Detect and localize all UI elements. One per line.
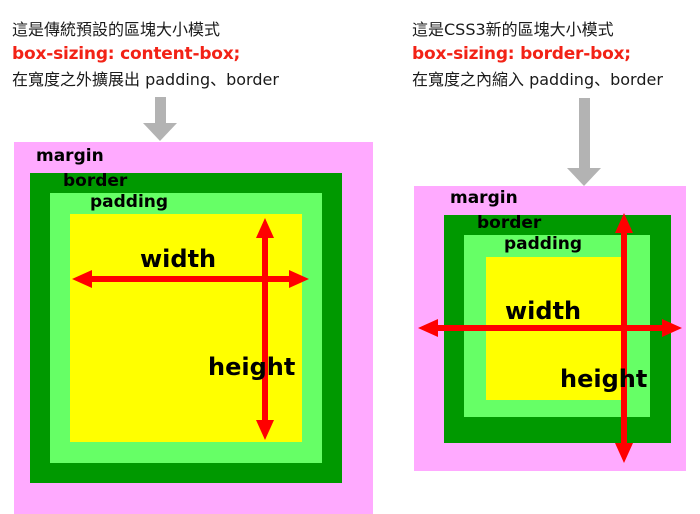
box-model-diagram-border-box: margin border padding width height bbox=[414, 186, 686, 471]
height-label: height bbox=[208, 354, 295, 380]
arrow-line bbox=[432, 325, 668, 331]
padding-label: padding bbox=[504, 234, 582, 254]
margin-label: margin bbox=[450, 188, 518, 208]
width-label: width bbox=[505, 298, 581, 324]
arrow-head-down bbox=[615, 443, 633, 463]
border-label: border bbox=[477, 213, 541, 233]
width-dimension-arrow bbox=[72, 276, 309, 282]
height-dimension-arrow bbox=[262, 218, 268, 440]
margin-label: margin bbox=[36, 146, 104, 166]
caption-content-box: 這是傳統預設的區塊大小模式 box-sizing: content-box; 在… bbox=[12, 17, 279, 92]
arrow-head bbox=[143, 123, 177, 141]
arrow-head-right bbox=[662, 319, 682, 337]
height-label: height bbox=[560, 366, 647, 392]
arrow-head-left bbox=[72, 270, 92, 288]
arrow-head-up bbox=[615, 213, 633, 233]
padding-label: padding bbox=[90, 192, 168, 212]
caption-intro-line: 這是傳統預設的區塊大小模式 bbox=[12, 17, 279, 42]
arrow-head-right bbox=[289, 270, 309, 288]
caption-code-line: box-sizing: border-box; bbox=[412, 42, 663, 67]
height-dimension-arrow bbox=[621, 213, 627, 463]
arrow-line bbox=[262, 232, 268, 426]
caption-code-line: box-sizing: content-box; bbox=[12, 42, 279, 67]
caption-border-box: 這是CSS3新的區塊大小模式 box-sizing: border-box; 在… bbox=[412, 17, 663, 92]
caption-note-line: 在寬度之內縮入 padding、border bbox=[412, 67, 663, 92]
caption-intro-line: 這是CSS3新的區塊大小模式 bbox=[412, 17, 663, 42]
box-model-diagram-content-box: margin border padding width height bbox=[14, 142, 373, 514]
border-label: border bbox=[63, 171, 127, 191]
caption-note-line: 在寬度之外擴展出 padding、border bbox=[12, 67, 279, 92]
arrow-line bbox=[621, 227, 627, 449]
arrow-shaft bbox=[155, 97, 166, 123]
arrow-head-down bbox=[256, 420, 274, 440]
arrow-shaft bbox=[579, 98, 590, 168]
arrow-head-left bbox=[418, 319, 438, 337]
width-label: width bbox=[140, 246, 216, 272]
arrow-head-up bbox=[256, 218, 274, 238]
width-dimension-arrow bbox=[418, 325, 682, 331]
arrow-head bbox=[567, 168, 601, 186]
